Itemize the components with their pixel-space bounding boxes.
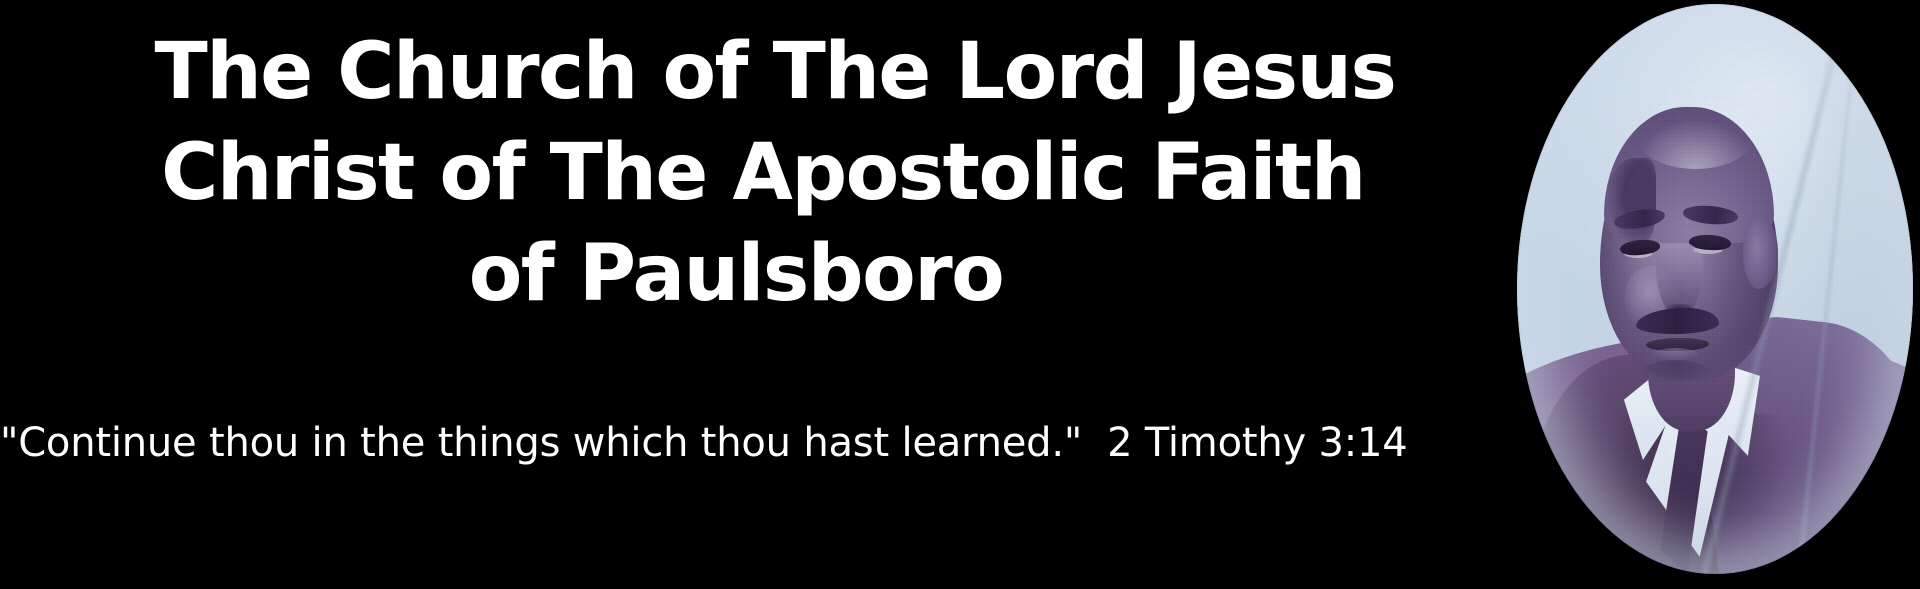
church-banner: The Church of The Lord Jesus Christ of T… [0,0,1920,589]
title-line-3: of Paulsboro [0,224,1560,325]
verse-quote: "Continue thou in the things which thou … [0,420,1082,466]
founder-portrait-photo [1517,4,1913,574]
scripture-verse: "Continue thou in the things which thou … [0,415,1325,471]
title-line-1: The Church of The Lord Jesus [0,22,1560,123]
page-title: The Church of The Lord Jesus Christ of T… [0,22,1560,325]
verse-reference: 2 Timothy 3:14 [1107,420,1407,466]
photo-oval-edge [1517,4,1913,574]
title-line-2: Christ of The Apostolic Faith [0,123,1560,224]
banner-text-block: The Church of The Lord Jesus Christ of T… [0,0,1560,589]
